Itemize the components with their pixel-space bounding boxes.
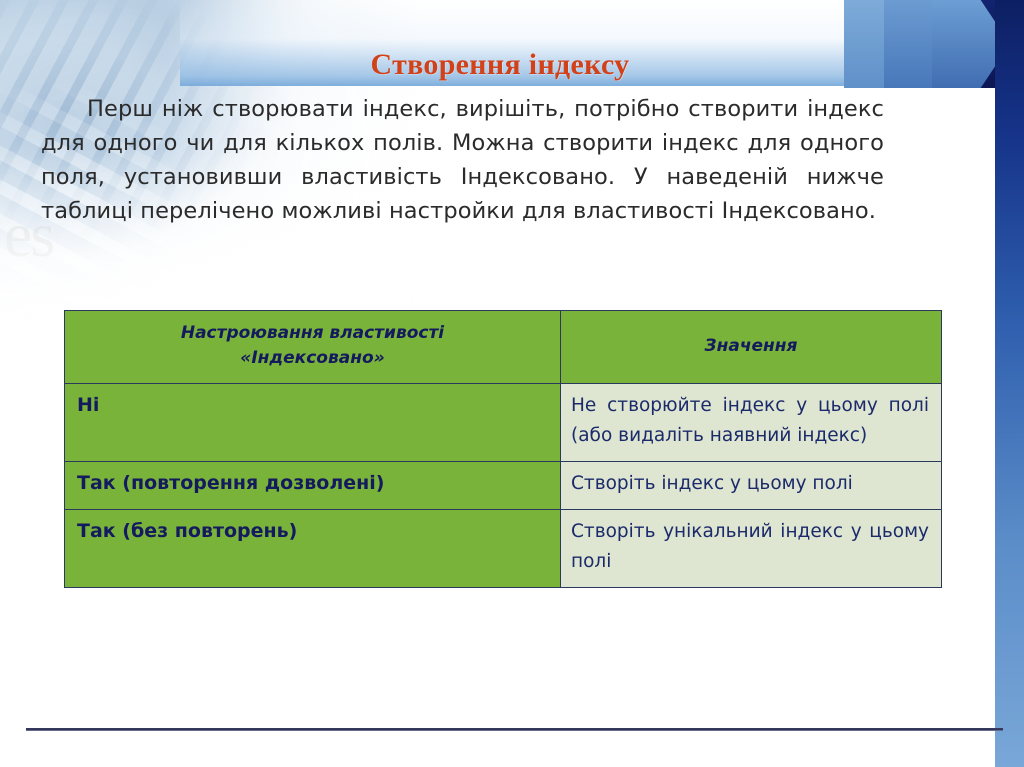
indexed-property-table: Настроювання властивості «Індексовано» З… (64, 310, 942, 588)
footer-divider (26, 728, 1003, 731)
table-row: Так (без повторень) Створіть унікальний … (65, 510, 942, 588)
table-header-value: Значення (561, 311, 942, 384)
table-cell-meaning: Не створюйте індекс у цьому полі (або ви… (561, 384, 942, 462)
table-row: Ні Не створюйте індекс у цьому полі (або… (65, 384, 942, 462)
body-paragraph: Перш ніж створювати індекс, вирішіть, по… (41, 92, 884, 228)
right-edge-strip (995, 0, 1024, 767)
table-cell-meaning: Створіть індекс у цьому полі (561, 462, 942, 510)
table-cell-setting: Ні (65, 384, 561, 462)
page-title: Створення індексу (0, 48, 1000, 82)
table-header-setting-line2: «Індексовано» (240, 348, 384, 368)
table-row: Так (повторення дозволені) Створіть інде… (65, 462, 942, 510)
table-header-row: Настроювання властивості «Індексовано» З… (65, 311, 942, 384)
table-header: Настроювання властивості «Індексовано» З… (65, 311, 942, 384)
slide-canvas: es (0, 0, 1024, 767)
table-cell-setting: Так (без повторень) (65, 510, 561, 588)
table-header-setting: Настроювання властивості «Індексовано» (65, 311, 561, 384)
table-cell-setting: Так (повторення дозволені) (65, 462, 561, 510)
table-cell-meaning: Створіть унікальний індекс у цьому полі (561, 510, 942, 588)
table-body: Ні Не створюйте індекс у цьому полі (або… (65, 384, 942, 588)
table-header-setting-line1: Настроювання властивості (181, 323, 444, 343)
